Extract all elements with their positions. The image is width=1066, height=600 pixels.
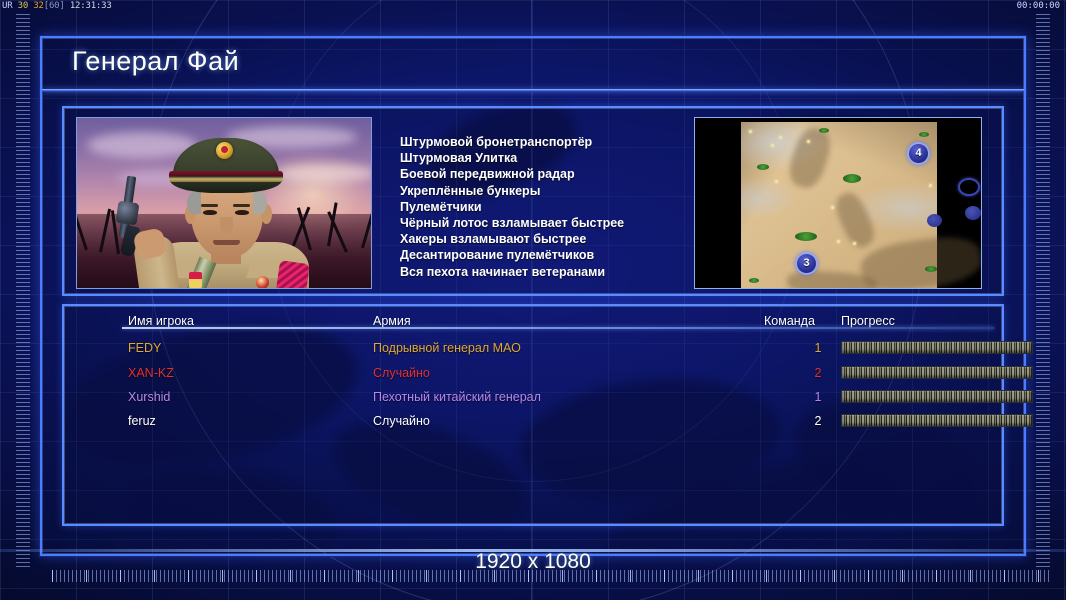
hair	[187, 192, 201, 214]
map-terrain: 4 3 1	[741, 122, 937, 288]
medal	[189, 272, 202, 288]
hair	[253, 192, 267, 214]
column-header-team: Команда	[764, 314, 815, 328]
fps-counter: UR 30 32[60] 12:31:33	[2, 0, 112, 12]
player-name: XAN-KZ	[128, 361, 174, 385]
revolver-cylinder	[116, 201, 140, 226]
terrain-shadow	[785, 124, 836, 192]
player-team[interactable]: 1	[809, 385, 827, 409]
player-list-panel: Имя игрока Армия Команда Прогресс FEDY П…	[62, 304, 1004, 526]
map-resource	[775, 180, 778, 183]
rank-badge	[256, 276, 269, 288]
fps-label: UR	[2, 1, 12, 11]
eye	[235, 210, 249, 215]
vegetation	[843, 174, 861, 183]
player-army[interactable]: Подрывной генерал МАО	[373, 336, 521, 360]
fps-value: 30	[18, 1, 28, 11]
map-preview[interactable]: 4 3 1	[694, 117, 982, 289]
player-progress-bar	[841, 341, 1033, 354]
fps-limit: [60]	[44, 1, 65, 11]
terrain-shadow	[858, 232, 982, 289]
eye	[203, 210, 217, 215]
left-edge-ruler	[16, 14, 30, 570]
player-name: FEDY	[128, 336, 161, 360]
vegetation	[819, 128, 829, 133]
column-header-army: Армия	[373, 314, 411, 328]
mouth	[213, 240, 240, 245]
ability-item: Штурмовой бронетранспортёр	[400, 134, 720, 150]
ability-item: Хакеры взламывают быстрее	[400, 231, 720, 247]
player-army[interactable]: Случайно	[373, 361, 430, 385]
player-team[interactable]: 2	[809, 361, 827, 385]
start-position-marker[interactable]: 4	[909, 144, 928, 163]
cloud	[277, 164, 371, 182]
player-progress-bar	[841, 366, 1033, 379]
header: Генерал Фай	[42, 38, 1024, 92]
fps-value-secondary: 32	[33, 1, 43, 11]
map-resource	[929, 184, 932, 187]
eyebrow	[233, 204, 250, 207]
player-progress-bar	[841, 414, 1033, 427]
column-header-player-name: Имя игрока	[128, 314, 194, 328]
map-resource	[831, 206, 834, 209]
general-abilities-list: Штурмовой бронетранспортёр Штурмовая Ули…	[400, 134, 720, 280]
ability-item: Боевой передвижной радар	[400, 166, 720, 182]
ability-item: Чёрный лотос взламывает быстрее	[400, 215, 720, 231]
map-resource	[749, 130, 752, 133]
game-clock: 00:00:00	[1017, 0, 1060, 12]
ability-item: Пулемётчики	[400, 199, 720, 215]
map-resource	[837, 240, 840, 243]
map-crater	[960, 180, 978, 194]
right-edge-ruler	[1036, 14, 1050, 570]
table-row[interactable]: FEDY Подрывной генерал МАО 1	[64, 336, 1002, 360]
progress-fill	[842, 342, 1032, 353]
map-resource	[807, 140, 810, 143]
top-status-bar: UR 30 32[60] 12:31:33 00:00:00	[0, 0, 1066, 12]
player-team[interactable]: 1	[809, 336, 827, 360]
player-name: feruz	[128, 409, 156, 433]
header-divider	[42, 89, 1024, 92]
table-header-divider	[122, 327, 994, 329]
vegetation	[757, 164, 769, 170]
ability-item: Штурмовая Улитка	[400, 150, 720, 166]
epaulette	[274, 260, 310, 288]
cap-emblem-icon	[216, 142, 233, 159]
start-position-marker[interactable]: 3	[797, 254, 816, 273]
map-resource	[779, 136, 782, 139]
nose	[220, 217, 233, 234]
table-row[interactable]: Xurshid Пехотный китайский генерал 1	[64, 385, 1002, 409]
player-team[interactable]: 2	[809, 409, 827, 433]
page-title: Генерал Фай	[72, 46, 239, 77]
vegetation	[749, 278, 759, 283]
table-header-row: Имя игрока Армия Команда Прогресс	[64, 314, 1002, 333]
table-row[interactable]: feruz Случайно 2	[64, 409, 1002, 433]
progress-fill	[842, 391, 1032, 402]
general-portrait	[76, 117, 372, 289]
vegetation	[795, 232, 817, 241]
lobby-window-frame: Генерал Фай	[40, 36, 1026, 556]
vegetation	[919, 132, 929, 137]
player-name: Xurshid	[128, 385, 170, 409]
general-info-panel: Штурмовой бронетранспортёр Штурмовая Ули…	[62, 106, 1004, 296]
map-resource	[853, 242, 856, 245]
water-body	[965, 206, 981, 220]
table-row[interactable]: XAN-KZ Случайно 2	[64, 361, 1002, 385]
progress-fill	[842, 415, 1032, 426]
ability-item: Вся пехота начинает ветеранами	[400, 264, 720, 280]
ability-item: Десантирование пулемётчиков	[400, 247, 720, 263]
ability-item: Укреплённые бункеры	[400, 183, 720, 199]
eyebrow	[201, 204, 218, 207]
player-army[interactable]: Случайно	[373, 409, 430, 433]
player-progress-bar	[841, 390, 1033, 403]
water-body	[927, 214, 942, 227]
map-resource	[771, 144, 774, 147]
column-header-progress: Прогресс	[841, 314, 895, 328]
game-lobby-screen: UR 30 32[60] 12:31:33 00:00:00 Генерал Ф…	[0, 0, 1066, 600]
player-army[interactable]: Пехотный китайский генерал	[373, 385, 541, 409]
resolution-label: 1920 x 1080	[0, 550, 1066, 574]
cap-band	[169, 171, 283, 182]
session-timer: 12:31:33	[70, 1, 112, 11]
vegetation	[925, 266, 937, 272]
progress-fill	[842, 367, 1032, 378]
